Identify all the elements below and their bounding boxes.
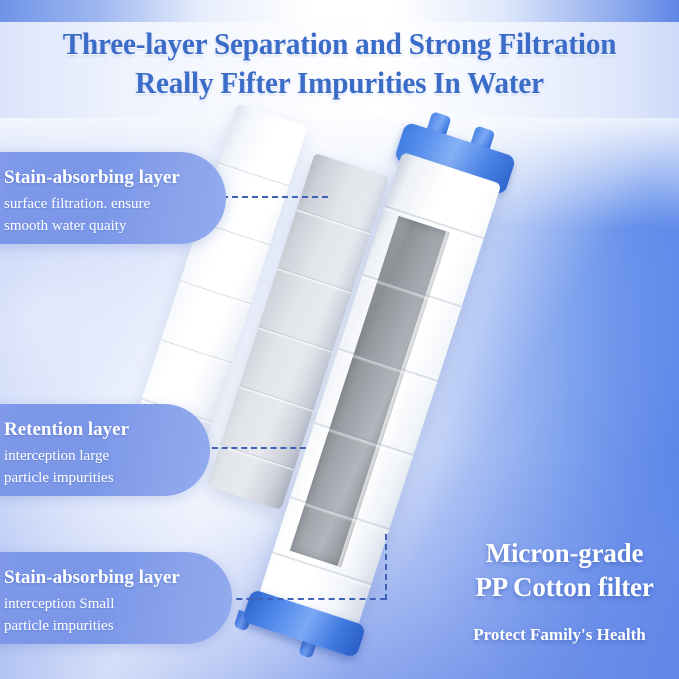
dashed-leader-line-3-vertical (385, 534, 387, 600)
product-name: Micron-grade PP Cotton filter (452, 536, 677, 604)
callout-body: surface filtration. ensure smooth water … (4, 193, 156, 237)
product-name-line-1: Micron-grade (452, 536, 677, 570)
dashed-leader-line-2 (202, 447, 306, 449)
callout-title: Stain-absorbing layer (4, 566, 162, 590)
callout-body: interception Small particle impurities (4, 593, 162, 637)
callout-stain-absorbing-top: Stain-absorbing layer surface filtration… (0, 152, 226, 244)
callout-retention-layer: Retention layer interception large parti… (0, 404, 210, 496)
callout-title: Stain-absorbing layer (4, 166, 156, 190)
product-name-line-2: PP Cotton filter (452, 570, 677, 604)
callout-body: interception large particle impurities (4, 445, 140, 489)
dashed-leader-line-1 (222, 196, 328, 198)
callout-title: Retention layer (4, 418, 140, 442)
product-infographic: Three-layer Separation and Strong Filtra… (0, 0, 679, 679)
callout-stain-absorbing-bottom: Stain-absorbing layer interception Small… (0, 552, 232, 644)
product-tagline: Protect Family's Health (440, 624, 679, 646)
dashed-leader-line-3 (226, 598, 386, 600)
